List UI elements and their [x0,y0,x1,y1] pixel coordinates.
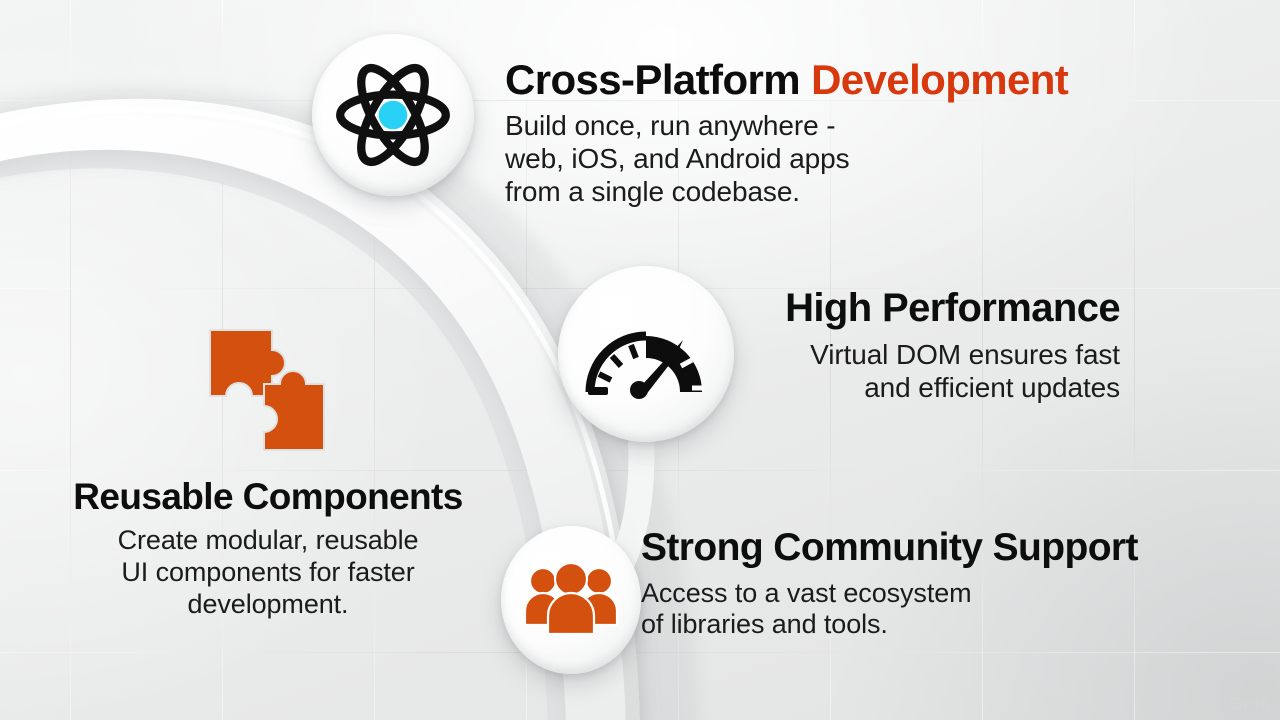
speedometer-icon [582,304,710,404]
feature-body-reusable-components: Create modular, reusable UI components f… [58,525,478,621]
people-group-icon [523,562,619,638]
feature-text-cross-platform: Cross-Platform Development Build once, r… [505,58,1068,208]
feature-body-strong-community: Access to a vast ecosystem of libraries … [641,578,1138,642]
feature-title-cross-platform: Cross-Platform Development [505,58,1068,102]
react-core-dot [379,101,408,130]
feature-text-high-performance: High Performance Virtual DOM ensures fas… [785,288,1120,404]
puzzle-pieces-icon [202,322,332,457]
feature-title-strong-community: Strong Community Support [641,528,1138,569]
feature-text-reusable-components: Reusable Components Create modular, reus… [58,478,478,621]
feature-icon-disc-strong-community[interactable] [501,526,641,674]
feature-title-reusable-components: Reusable Components [58,478,478,516]
title-main: Cross-Platform [505,56,811,103]
feature-body-high-performance: Virtual DOM ensures fast and efficient u… [785,338,1120,404]
feature-icon-disc-high-performance[interactable] [558,266,734,442]
feature-icon-disc-cross-platform[interactable] [312,34,474,196]
feature-text-strong-community: Strong Community Support Access to a vas… [641,528,1138,641]
watermark-label: Grok [1229,694,1270,714]
feature-body-cross-platform: Build once, run anywhere - web, iOS, and… [505,109,1068,208]
feature-title-high-performance: High Performance [785,288,1120,330]
watermark: Grok [1208,694,1270,714]
title-accent: Development [811,56,1068,103]
infographic-canvas: Cross-Platform Development Build once, r… [0,0,1280,720]
react-atom-icon [327,49,459,181]
watermark-logo-icon [1208,695,1224,713]
